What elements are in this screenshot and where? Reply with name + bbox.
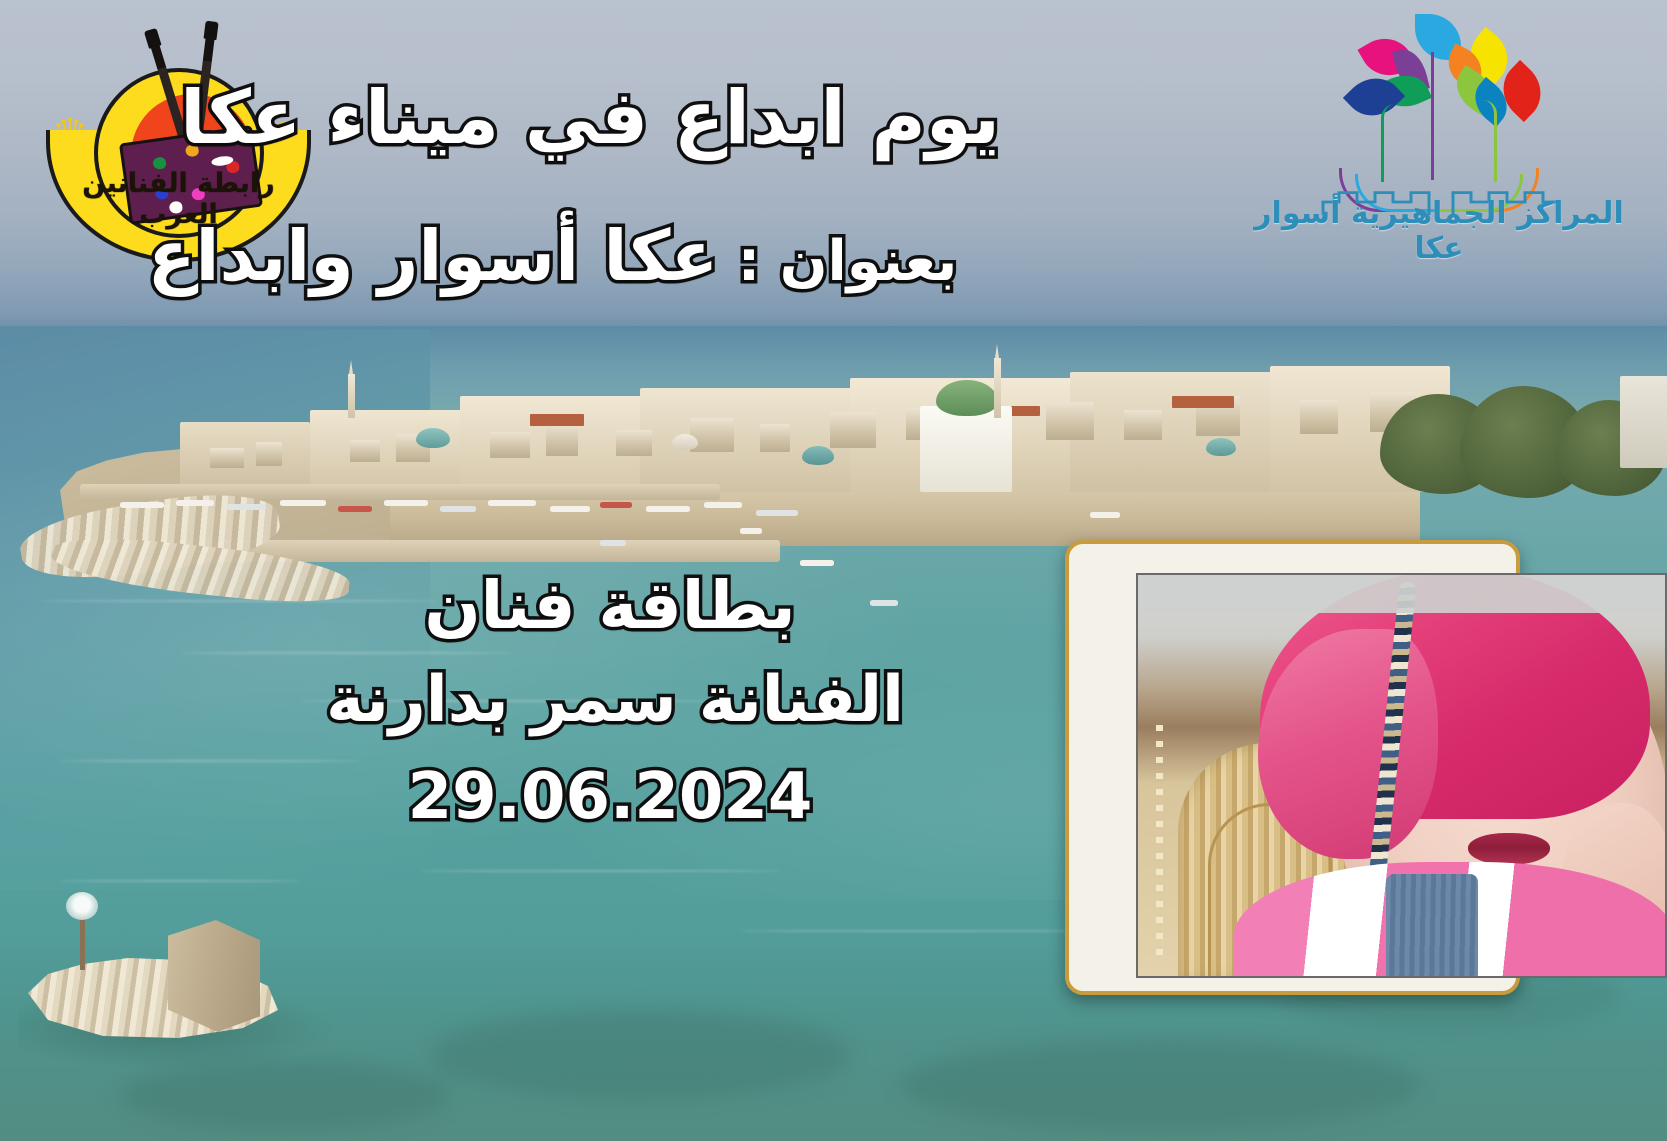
- artist-portrait-photo: [1136, 573, 1667, 978]
- minaret: [348, 374, 355, 418]
- colorful-tree-icon: [1321, 12, 1561, 217]
- moored-boat: [226, 504, 266, 510]
- headline-line-2: بعنوان : عكا أسوار وابداع: [0, 220, 1105, 294]
- artist-card-label: بطاقة فنان: [300, 570, 920, 643]
- mosque-green-dome: [936, 380, 998, 416]
- wave-streak: [180, 652, 510, 654]
- wave-streak: [420, 870, 780, 872]
- headline-line-1: يوم ابداع في ميناء عكا: [0, 80, 1180, 158]
- moored-boat: [488, 500, 536, 506]
- red-tile-roof: [1172, 396, 1234, 408]
- moored-boat: [280, 500, 326, 506]
- subtitle-prefix: بعنوان :: [718, 229, 957, 294]
- white-dome: [672, 434, 698, 450]
- acre-marina: [80, 462, 860, 572]
- red-tile-roof: [530, 414, 584, 426]
- modern-building: [1620, 376, 1667, 468]
- moored-boat: [176, 500, 214, 506]
- subtitle-main: عكا أسوار وابداع: [148, 215, 719, 297]
- reef-patch: [430, 1010, 850, 1100]
- hanging-beads: [1156, 725, 1163, 955]
- islet-tower: [168, 920, 260, 1032]
- teal-dome: [416, 428, 450, 448]
- boat: [740, 528, 762, 534]
- photo-top-bar: [1138, 575, 1665, 613]
- artist-name: الفنانة سمر بدارنة: [270, 665, 960, 735]
- islet-navigation-light: [66, 892, 98, 920]
- asswar-akka-logo[interactable]: المراكز الجماهيرية أسوار عكا: [1229, 8, 1649, 270]
- fortified-islet: [18, 880, 348, 1070]
- event-date: 29.06.2024: [330, 762, 890, 832]
- wave-streak: [60, 760, 360, 762]
- boat: [800, 560, 834, 566]
- moored-boat: [120, 502, 164, 508]
- denim-overall: [1386, 874, 1478, 978]
- moored-boat: [440, 506, 476, 512]
- poster-root: ♛ ♛ رابطة الفنانين العرب: [0, 0, 1667, 1141]
- building-block: [1070, 372, 1300, 492]
- asswar-akka-label: المراكز الجماهيرية أسوار عكا: [1229, 196, 1649, 266]
- moored-boat: [550, 506, 590, 512]
- moored-boat: [384, 500, 428, 506]
- reef-patch: [120, 1060, 450, 1130]
- moored-boat: [600, 502, 632, 508]
- lips: [1468, 833, 1550, 865]
- moored-boat: [704, 502, 742, 508]
- portrait-content: [1138, 575, 1665, 976]
- boat: [600, 540, 626, 546]
- al-jazzar-mosque-block: [920, 406, 1012, 492]
- wave-streak: [740, 930, 1100, 932]
- mosque-minaret: [994, 358, 1001, 418]
- moored-boat: [756, 510, 798, 516]
- moored-boat: [646, 506, 690, 512]
- teal-dome: [1206, 438, 1236, 456]
- boat: [1090, 512, 1120, 518]
- moored-boat: [338, 506, 372, 512]
- reef-patch: [900, 1040, 1420, 1130]
